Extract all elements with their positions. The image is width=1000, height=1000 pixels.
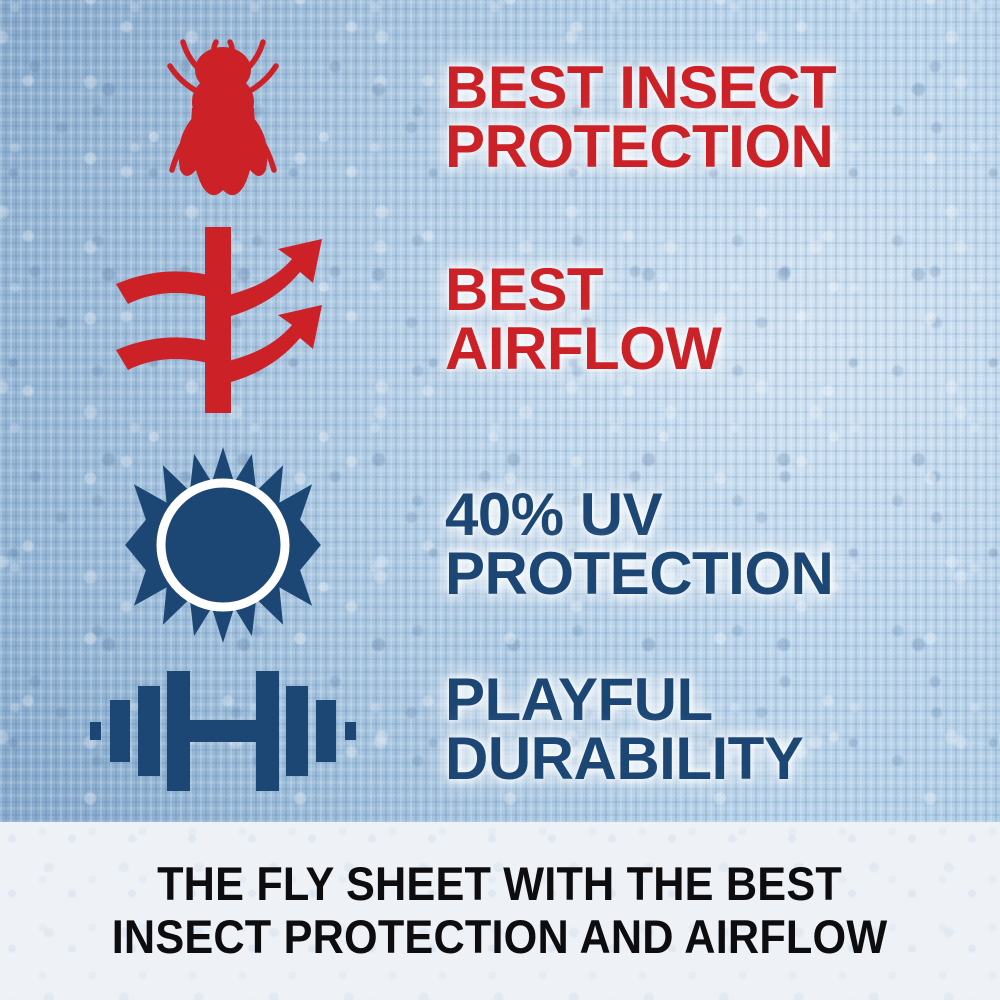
fly-icon [158, 30, 288, 205]
caption-band: THE FLY SHEET WITH THE BEST INSECT PROTE… [0, 822, 1000, 1000]
caption-text: THE FLY SHEET WITH THE BEST INSECT PROTE… [112, 858, 888, 963]
product-feature-infographic: BEST INSECT PROTECTION BEST AIRFLO [0, 0, 1000, 1000]
feature-row-durability: PLAYFUL DURABILITY [0, 650, 1000, 810]
feature-label-durability: PLAYFUL DURABILITY [445, 671, 803, 789]
feature-icon-cell-durability [0, 650, 445, 810]
airflow-arrows-icon [108, 225, 338, 415]
feature-row-airflow: BEST AIRFLOW [0, 225, 1000, 415]
feature-icon-cell-insect-protection [0, 30, 445, 205]
feature-row-uv-protection: 40% UV PROTECTION [0, 445, 1000, 645]
barbell-icon [88, 658, 358, 803]
feature-label-uv-protection: 40% UV PROTECTION [445, 486, 833, 604]
feature-icon-cell-airflow [0, 225, 445, 415]
feature-label-insect-protection: BEST INSECT PROTECTION [445, 59, 836, 177]
feature-icon-cell-uv-protection [0, 445, 445, 645]
feature-label-airflow: BEST AIRFLOW [445, 261, 721, 379]
sun-burst-icon [123, 445, 323, 645]
feature-row-insect-protection: BEST INSECT PROTECTION [0, 30, 1000, 205]
